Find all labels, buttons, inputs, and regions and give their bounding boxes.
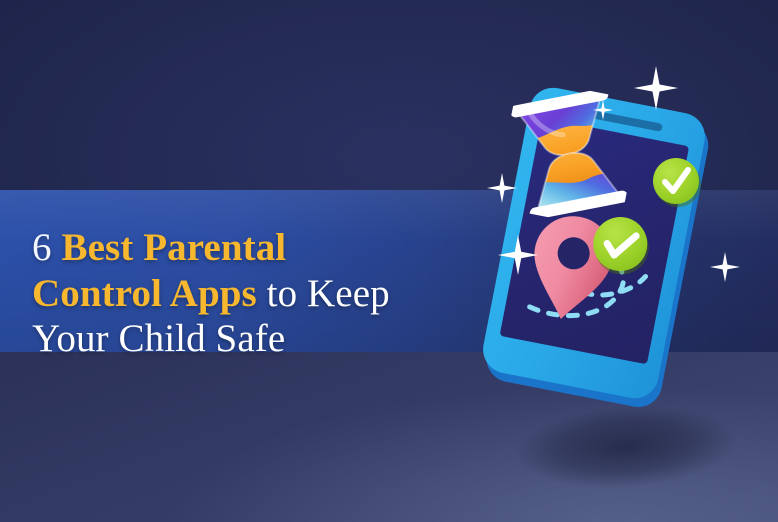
promo-banner: 6 Best Parental Control Apps to Keep You…: [0, 0, 778, 522]
page-title: 6 Best Parental Control Apps to Keep You…: [32, 225, 462, 362]
check-circle-small: [653, 158, 699, 204]
hourglass-icon: [494, 77, 645, 231]
check-mark-small-icon: [653, 158, 699, 204]
title-highlight-2: Control Apps: [32, 272, 257, 315]
title-number: 6: [32, 226, 61, 269]
title-plain-3: Your Child Safe: [32, 317, 285, 360]
title-highlight-1: Best Parental: [61, 226, 286, 269]
title-plain-2: to Keep: [257, 272, 390, 315]
